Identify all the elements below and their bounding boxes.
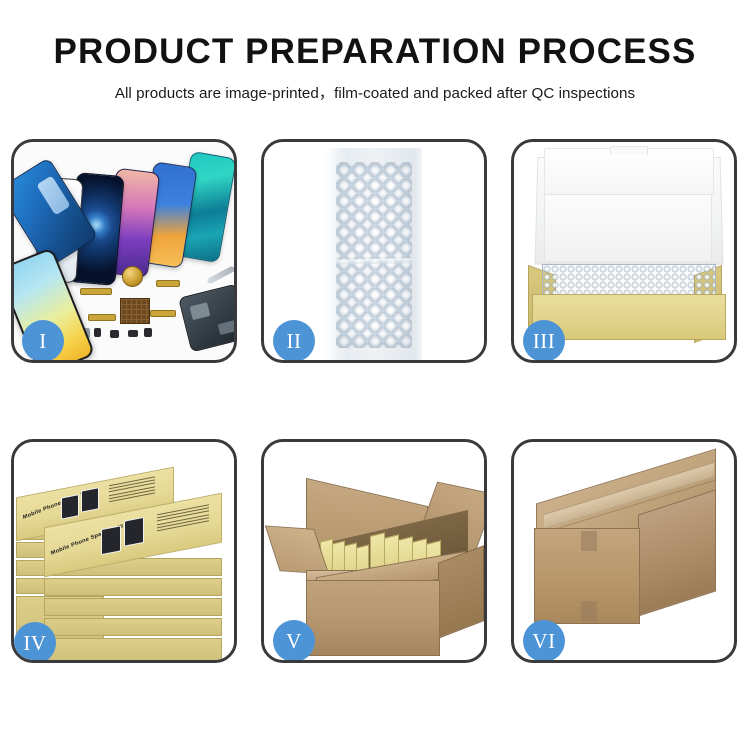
flex-cable-part — [156, 280, 180, 287]
flex-cable-part — [88, 314, 116, 321]
bubble-wrapped-contents — [542, 264, 716, 298]
speaker-part-icon — [122, 266, 143, 287]
bubble-wrap-bubbles — [336, 162, 412, 348]
sealed-carton-front-face — [534, 528, 640, 624]
box-lid-notch — [610, 146, 648, 155]
flex-cable-part — [150, 310, 176, 317]
step-badge-5: V — [273, 620, 315, 662]
spare-parts-group — [80, 270, 234, 360]
small-chip-part — [110, 330, 119, 338]
logic-board-part — [178, 284, 234, 353]
carton-tape-tab — [581, 601, 597, 621]
box-lid-top-flap — [544, 148, 714, 196]
step-badge-2: II — [273, 320, 315, 362]
step-badge-1: I — [22, 320, 64, 362]
step-badge-6: VI — [523, 620, 565, 662]
foam-liner — [544, 194, 712, 262]
bubble-wrap-package — [326, 148, 422, 360]
stacked-box-edge — [44, 638, 222, 660]
ic-chip-grid-icon — [120, 298, 150, 324]
step-badge-4: IV — [14, 622, 56, 663]
process-step-panel-2: II — [261, 139, 487, 363]
carton-tape-tab — [581, 531, 597, 551]
small-chip-part — [94, 328, 101, 337]
box-screen-image — [101, 525, 121, 555]
stacked-box-edge — [44, 578, 222, 596]
box-screen-image — [124, 517, 144, 547]
process-step-panel-6: VI — [511, 439, 737, 663]
process-step-grid: I II III — [11, 139, 739, 663]
step-badge-3: III — [523, 320, 565, 362]
box-screen-image — [61, 494, 79, 519]
stacked-box-edge — [44, 618, 222, 636]
flex-cable-part — [80, 288, 112, 295]
page-header: PRODUCT PREPARATION PROCESS All products… — [0, 0, 750, 103]
process-step-panel-5: V — [261, 439, 487, 663]
small-chip-part — [144, 328, 152, 337]
process-step-panel-1: I — [11, 139, 237, 363]
stacked-box-edge — [44, 598, 222, 616]
box-spec-lines — [109, 476, 155, 504]
box-spec-lines — [157, 504, 209, 533]
carton-front-face — [306, 580, 440, 656]
box-screen-image — [81, 487, 99, 512]
process-step-panel-3: III — [511, 139, 737, 363]
page-subtitle: All products are image-printed，film-coat… — [0, 81, 750, 103]
process-step-panel-4: Mobile Phone Spare Parts Mobile Phone Sp… — [11, 439, 237, 663]
bubble-wrap-bubbles-offset — [336, 162, 412, 348]
small-chip-part — [128, 330, 138, 337]
page-title: PRODUCT PREPARATION PROCESS — [0, 34, 750, 71]
